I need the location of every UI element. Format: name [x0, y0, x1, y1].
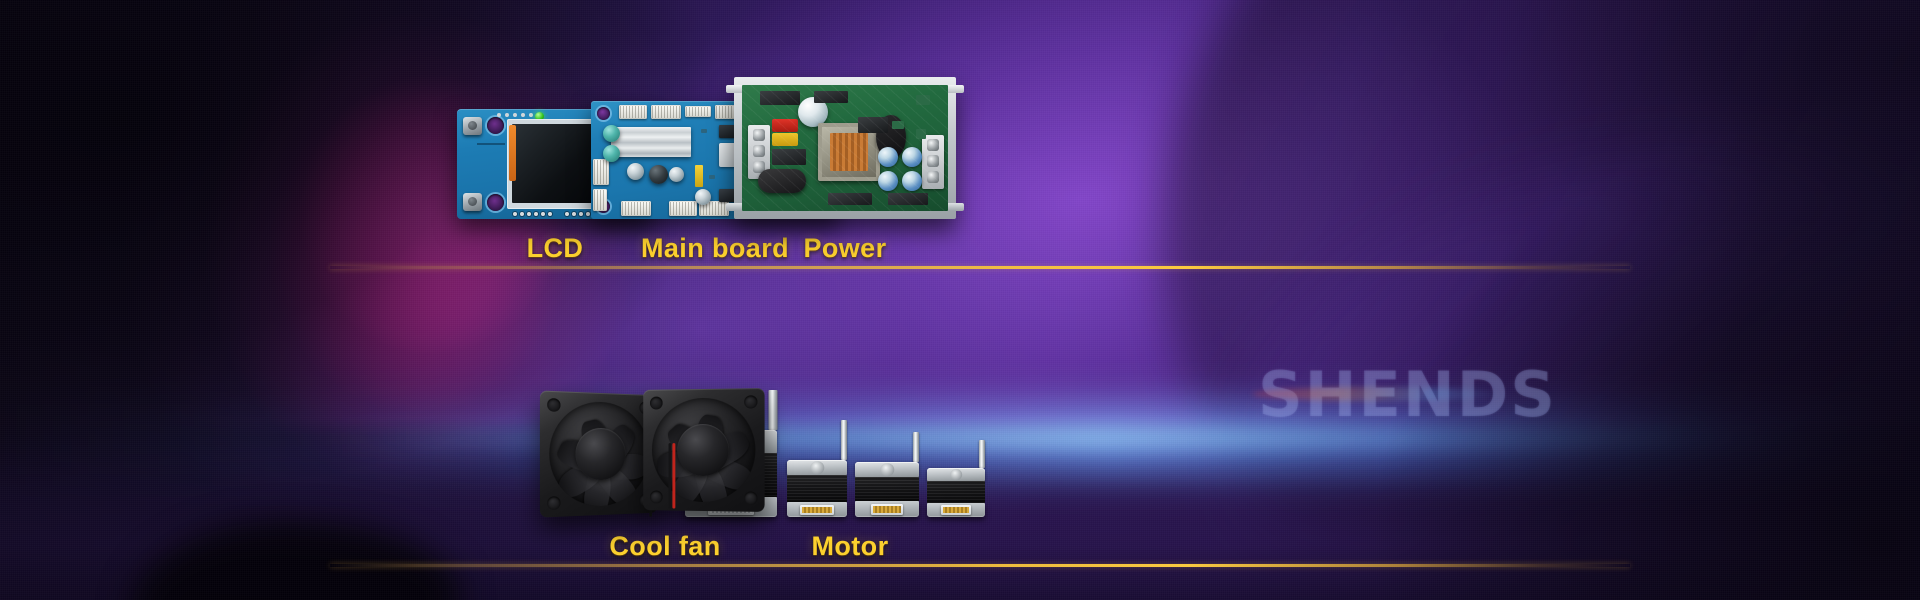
mainboard-connector	[651, 105, 681, 119]
psu-red-component	[772, 119, 798, 132]
mainboard-capacitor	[649, 165, 668, 184]
product-row-bottom: Cool fan	[330, 300, 1630, 562]
psu-transformer	[818, 123, 880, 181]
product-label-lcd: LCD	[527, 233, 584, 264]
psu-black-component	[760, 91, 800, 105]
motor-end-cap-bottom	[787, 502, 847, 517]
fan-blade-ring	[652, 397, 755, 502]
psu-black-component	[772, 149, 806, 165]
lcd-mounting-hole	[487, 117, 504, 134]
fan-screw-hole	[547, 398, 560, 412]
cooling-fan	[643, 388, 764, 512]
mainboard-capacitor	[603, 145, 620, 162]
fan-hub	[677, 424, 729, 476]
stepper-motor	[787, 420, 847, 517]
mainboard-capacitor	[627, 163, 644, 180]
cooling-fan-image	[540, 387, 790, 517]
psu-choke-coil	[758, 169, 806, 193]
psu-black-component	[814, 91, 848, 103]
fan-hub	[576, 428, 626, 481]
motor-shaft	[913, 432, 919, 462]
stepper-motor	[927, 440, 985, 517]
psu-pcb	[742, 85, 948, 211]
psu-smd-part	[892, 121, 904, 129]
fan-wire-red	[672, 443, 675, 509]
mainboard-smd-part	[709, 175, 715, 179]
motor-body	[787, 475, 847, 502]
motor-connector	[871, 504, 903, 515]
lcd-potentiometer	[509, 125, 516, 181]
banner-stage: SHENDS	[0, 0, 1920, 600]
psu-terminal-block	[748, 125, 770, 179]
motor-shaft	[768, 390, 777, 430]
stepper-motor	[855, 432, 919, 517]
mainboard-capacitor	[669, 167, 684, 182]
mainboard-capacitor	[695, 189, 711, 205]
mainboard-connector	[619, 105, 647, 119]
mainboard-heatsink	[611, 127, 691, 157]
mainboard-yellow-component	[695, 165, 703, 187]
psu-black-component	[888, 193, 928, 205]
lcd-tactile-button	[463, 193, 482, 211]
psu-large-capacitor	[798, 97, 828, 127]
divider-line-bottom	[330, 564, 1630, 567]
lcd-tactile-button	[463, 117, 482, 135]
mainboard-connector	[621, 201, 651, 216]
fan-screw-hole	[650, 490, 663, 503]
mainboard-capacitor	[603, 125, 620, 142]
product-card-power[interactable]: Power	[720, 26, 970, 264]
motor-body	[927, 481, 985, 503]
fan-screw-hole	[547, 496, 560, 510]
psu-smd-part	[916, 129, 926, 139]
motor-connector	[800, 505, 834, 515]
mainboard-smd-part	[701, 129, 707, 133]
motor-shaft	[841, 420, 847, 460]
motor-end-cap-bottom	[855, 501, 919, 517]
mainboard-pin-header	[685, 106, 711, 117]
power-supply-image	[734, 77, 956, 219]
motor-end-cap-top	[855, 462, 919, 477]
fan-screw-hole	[744, 395, 757, 408]
product-label-motor: Motor	[812, 531, 889, 562]
motor-connector	[941, 505, 971, 515]
divider-line-top	[330, 266, 1630, 269]
motor-body	[855, 477, 919, 501]
fan-screw-hole	[744, 491, 757, 504]
psu-yellow-component	[772, 133, 798, 146]
psu-black-component	[858, 117, 888, 133]
fan-blade-ring	[549, 400, 649, 508]
mainboard-mounting-hole	[597, 107, 610, 120]
psu-toroid-inductor	[876, 115, 906, 159]
motor-end-cap-top	[787, 460, 847, 475]
cooling-fan	[540, 390, 657, 517]
psu-smd-part	[916, 95, 930, 105]
lcd-bottom-pins	[513, 212, 552, 216]
cooling-fan-pair	[540, 387, 790, 517]
psu-terminal-block	[922, 135, 944, 189]
motor-shaft	[979, 440, 985, 468]
fan-wire-black	[668, 443, 671, 508]
motor-end-cap-top	[927, 468, 985, 481]
mainboard-connector	[593, 159, 609, 185]
lcd-mounting-hole	[487, 194, 504, 211]
mainboard-connector	[593, 189, 607, 211]
power-supply-unit	[734, 77, 956, 219]
fan-screw-hole	[650, 397, 663, 410]
motor-end-cap-bottom	[927, 503, 985, 517]
mainboard-connector	[669, 201, 697, 216]
psu-black-component	[828, 193, 872, 205]
product-label-power: Power	[803, 233, 886, 264]
psu-electrolytic-capacitors	[878, 147, 922, 191]
product-row-top: LCD	[330, 26, 1630, 264]
lcd-pcb-trace	[477, 143, 505, 145]
